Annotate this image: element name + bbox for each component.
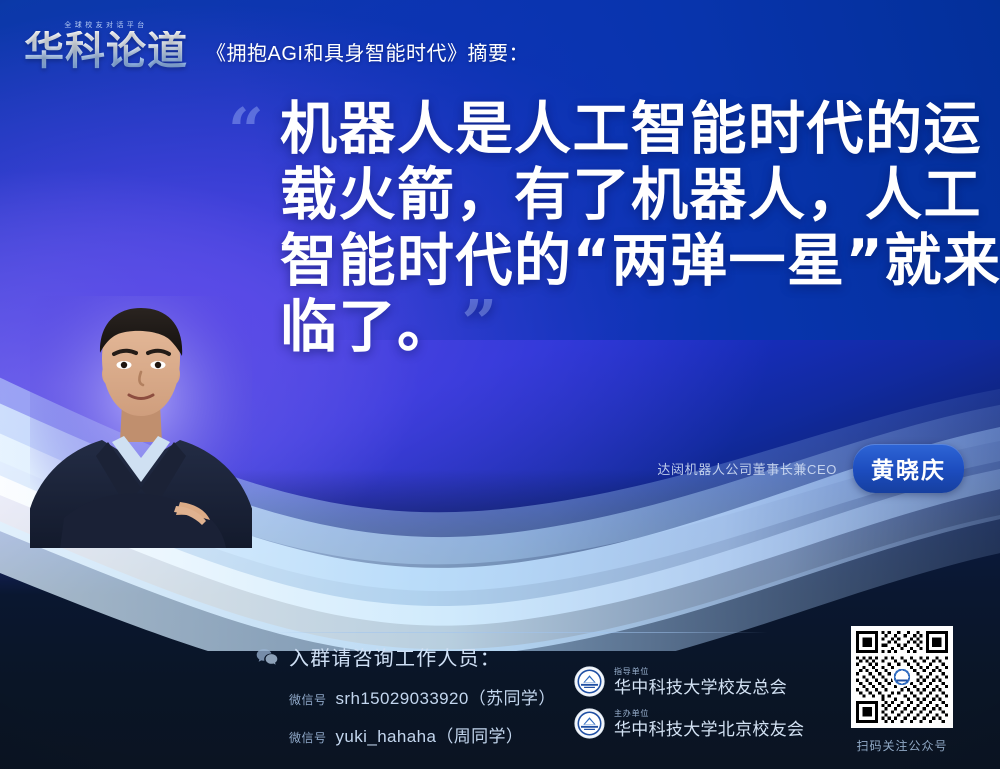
logo-wordmark: 华科论道 — [24, 31, 188, 71]
organizations-section: 指导单位 华中科技大学校友总会 主办单位 华中科技大学北京校友会 — [574, 666, 864, 750]
speaker-role: 达闼机器人公司董事长兼CEO — [657, 459, 837, 478]
quote-line-final: 临了。 ” — [280, 294, 948, 360]
qr-code-icon[interactable] — [851, 626, 953, 728]
wechat-id: yuki_hahaha（周同学） — [336, 722, 524, 747]
organization-name: 华中科技大学北京校友会 — [614, 721, 804, 738]
organization-text: 指导单位 华中科技大学校友总会 — [614, 668, 787, 696]
university-seal-icon — [574, 666, 605, 697]
quote-line: 智能时代的“两弹一星”就来 — [280, 228, 948, 294]
contact-title: 入群请咨询工作人员： — [289, 642, 501, 671]
logo-tagline: 全球校友对话平台 — [64, 20, 147, 30]
poster-root: 全球校友对话平台 华科论道 《拥抱AGI和具身智能时代》摘要： “ 机器人是人工… — [0, 0, 1000, 769]
organization-kind: 指导单位 — [614, 668, 787, 676]
quote-block: “ 机器人是人工智能时代的运 载火箭，有了机器人，人工 智能时代的“两弹一星”就… — [228, 96, 948, 360]
quote-line: 临了。 — [280, 294, 456, 360]
organization-row: 指导单位 华中科技大学校友总会 — [574, 666, 864, 697]
poster-footer: 入群请咨询工作人员： 微信号 srh15029033920（苏同学） 微信号 y… — [256, 642, 980, 752]
wechat-label: 微信号 — [289, 691, 327, 708]
wechat-label: 微信号 — [289, 729, 327, 746]
speaker-name-badge: 黄晓庆 — [853, 444, 964, 493]
organization-text: 主办单位 华中科技大学北京校友会 — [614, 710, 804, 738]
wechat-icon — [256, 648, 278, 665]
university-seal-icon — [574, 708, 605, 739]
footer-divider — [268, 632, 768, 633]
quote-lines: 机器人是人工智能时代的运 载火箭，有了机器人，人工 智能时代的“两弹一星”就来 … — [280, 96, 948, 360]
qr-caption: 扫码关注公众号 — [834, 737, 970, 754]
open-quote-mark: “ — [228, 100, 264, 162]
organization-kind: 主办单位 — [614, 710, 804, 718]
qr-section: 扫码关注公众号 — [834, 626, 970, 754]
speaker-portrait — [30, 296, 252, 548]
page-title: 《拥抱AGI和具身智能时代》摘要： — [206, 37, 529, 66]
close-quote-mark: ” — [462, 292, 499, 354]
organization-row: 主办单位 华中科技大学北京校友会 — [574, 708, 864, 739]
organization-name: 华中科技大学校友总会 — [614, 679, 787, 696]
quote-line: 载火箭，有了机器人，人工 — [280, 162, 948, 228]
attribution: 达闼机器人公司董事长兼CEO 黄晓庆 — [657, 444, 964, 493]
poster-header: 全球校友对话平台 华科论道 《拥抱AGI和具身智能时代》摘要： — [24, 14, 976, 76]
brand-logo: 全球校友对话平台 华科论道 — [24, 20, 188, 71]
quote-line: 机器人是人工智能时代的运 — [280, 96, 948, 162]
wechat-id: srh15029033920（苏同学） — [336, 684, 556, 709]
